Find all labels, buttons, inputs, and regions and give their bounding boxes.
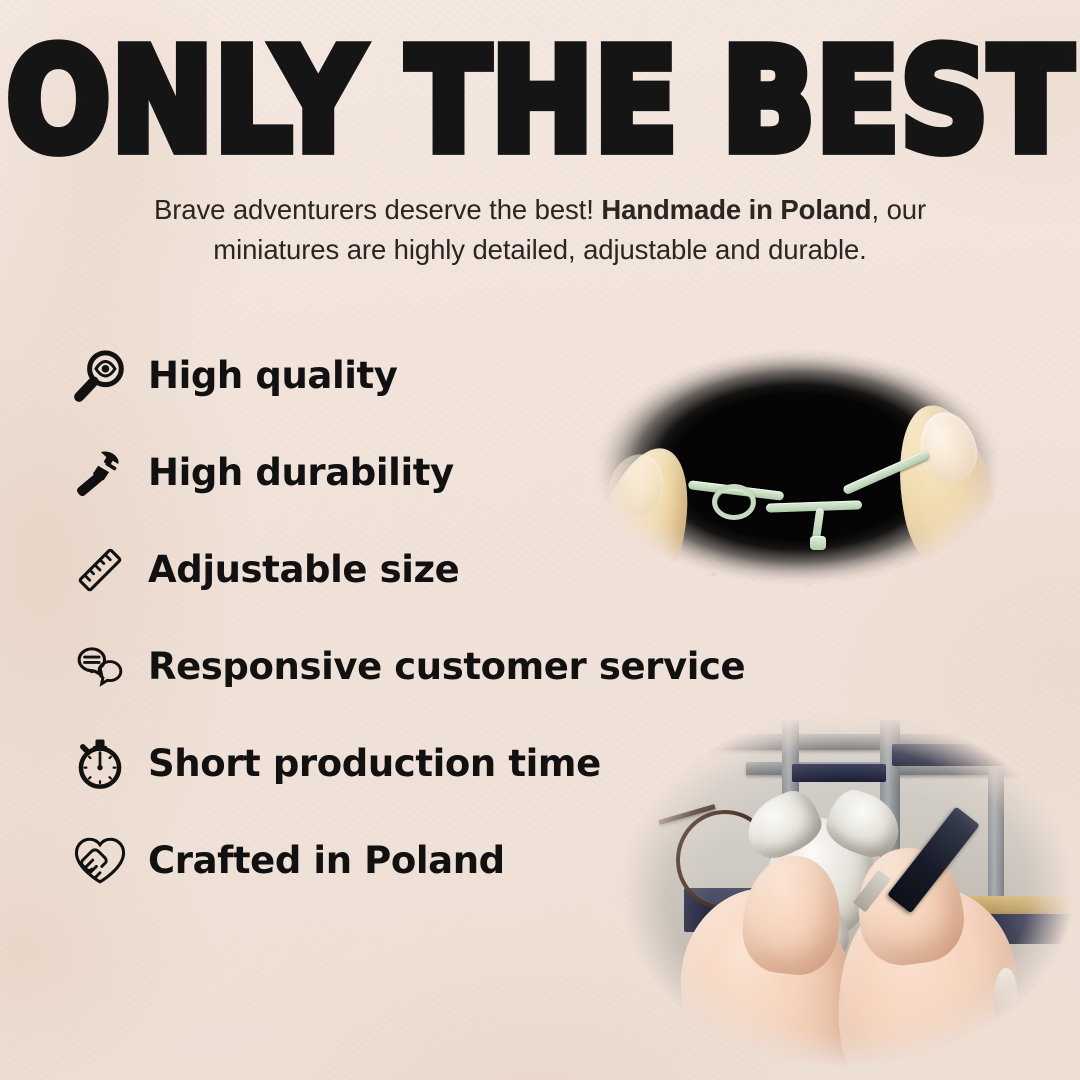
subtitle-emphasis: Handmade in Poland [601,194,871,225]
stopwatch-icon [64,728,136,800]
heart-handshake-icon [64,825,136,897]
feature-item-short-production-time: Short production time [64,715,804,812]
feature-item-crafted-in-poland: Crafted in Poland [64,812,804,909]
feature-label: Short production time [148,745,601,782]
parts-tray-mid [792,764,886,782]
feature-item-high-durability: High durability [64,424,804,521]
feature-list: High quality High durability [64,327,804,909]
subtitle: Brave adventurers deserve the best! Hand… [90,190,990,270]
feature-label: High quality [148,357,398,394]
feature-item-adjustable-size: Adjustable size [64,521,804,618]
parts-tray-top [892,744,1068,766]
magnifier-eye-icon [64,340,136,412]
feature-label: High durability [148,454,454,491]
speech-bubbles-icon [64,631,136,703]
ruler-icon [64,534,136,606]
feature-item-high-quality: High quality [64,327,804,424]
miniature-dangle-tip [810,536,826,550]
feature-label: Adjustable size [148,551,459,588]
feature-label: Responsive customer service [148,648,745,685]
subtitle-lead: Brave adventurers deserve the best! [154,194,594,225]
page-title: ONLY THE BEST [0,30,1080,172]
poster-canvas: ONLY THE BEST Brave adventurers deserve … [0,0,1080,1080]
feature-item-responsive-customer-service: Responsive customer service [64,618,804,715]
hammer-icon [64,437,136,509]
feature-label: Crafted in Poland [148,842,505,879]
